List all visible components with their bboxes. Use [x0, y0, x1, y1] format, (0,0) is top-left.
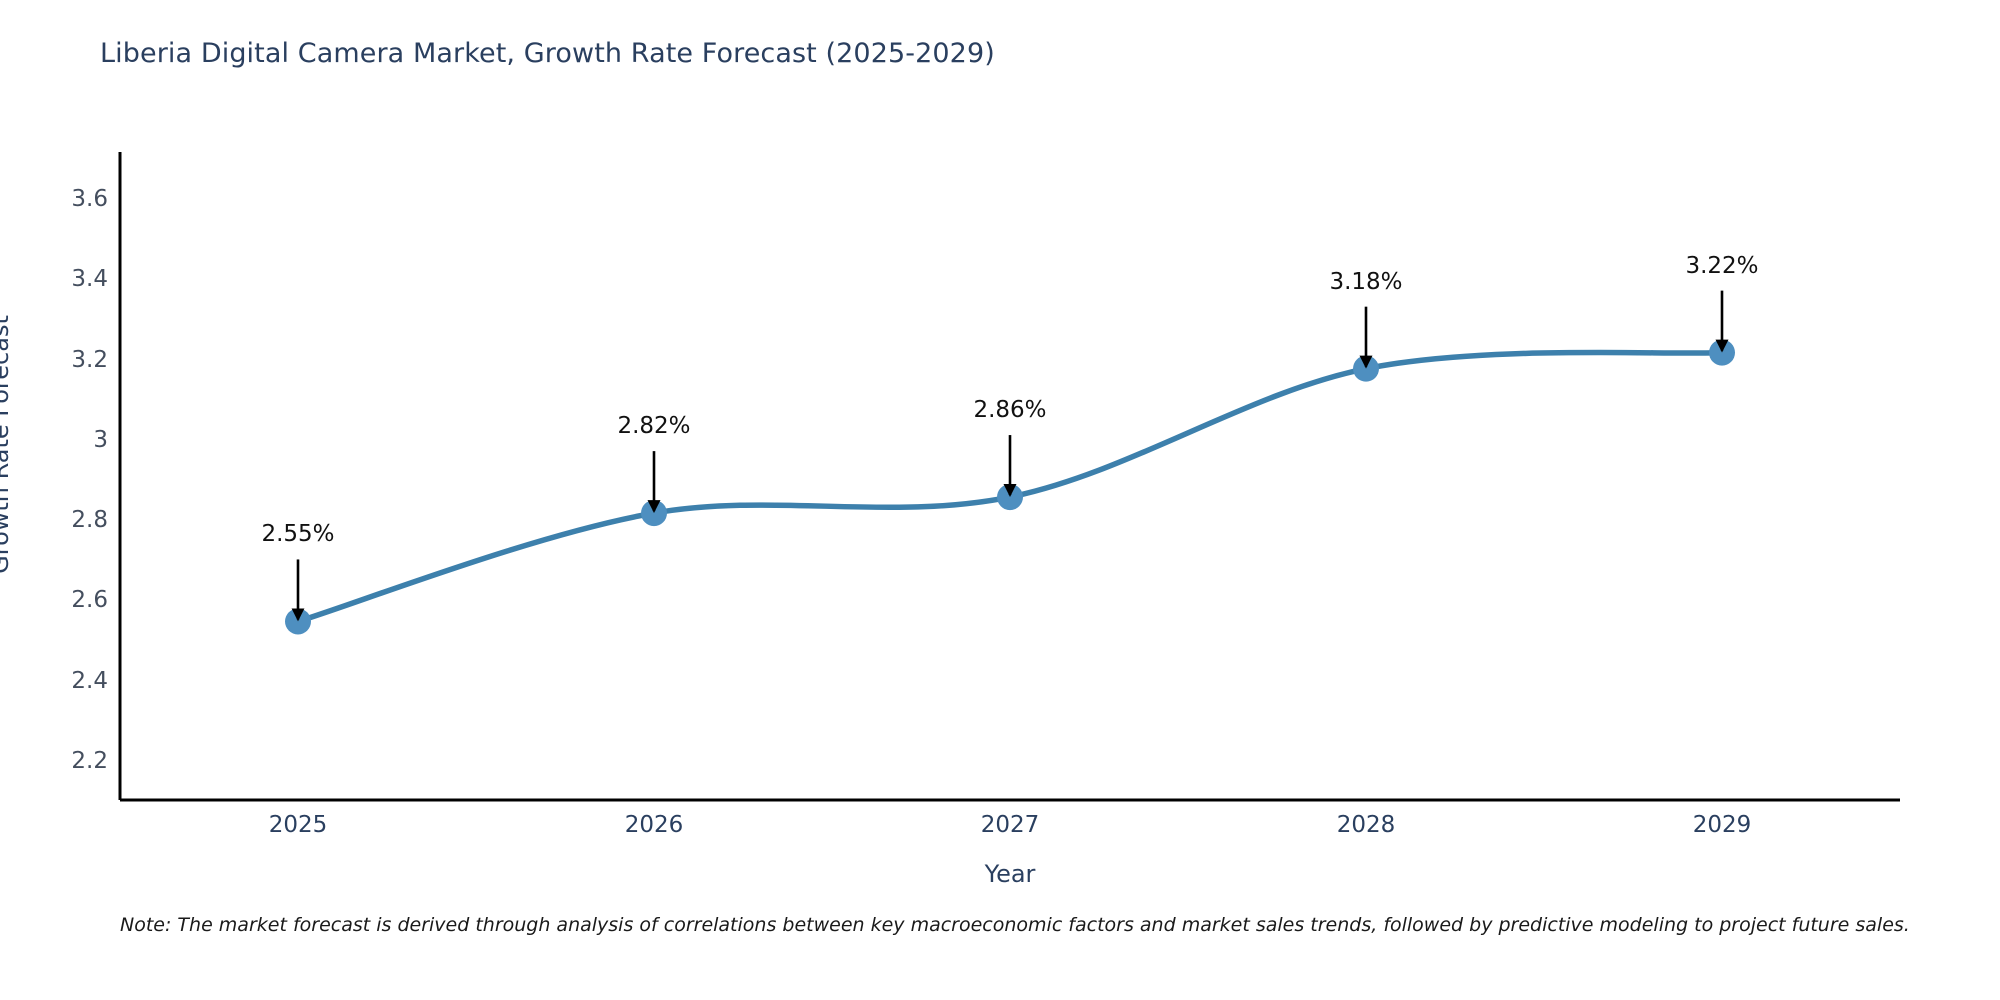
data-point-label: 3.22% — [1685, 253, 1758, 279]
data-point-label: 2.55% — [261, 521, 334, 547]
annotation-arrows — [298, 291, 1722, 620]
data-point-label: 3.18% — [1329, 269, 1402, 295]
chart-page: Liberia Digital Camera Market, Growth Ra… — [0, 0, 2000, 1000]
plot-area — [0, 0, 2000, 1000]
chart-footnote: Note: The market forecast is derived thr… — [120, 914, 1910, 936]
data-point-label: 2.82% — [617, 413, 690, 439]
data-point-label: 2.86% — [973, 397, 1046, 423]
x-axis-title: Year — [120, 860, 1900, 888]
